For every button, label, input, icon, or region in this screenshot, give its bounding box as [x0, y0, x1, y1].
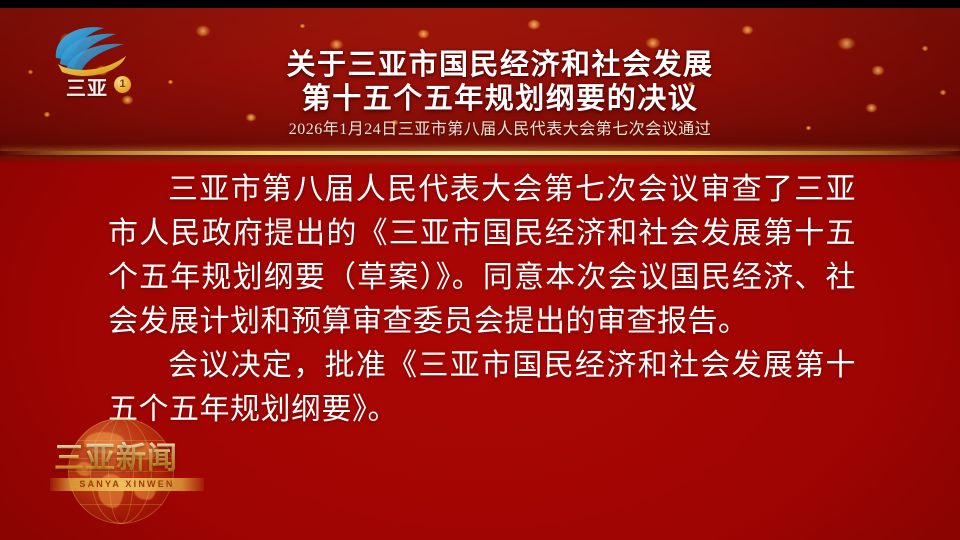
letterbox-top-bar [0, 0, 960, 8]
bokeh-particle [44, 112, 50, 117]
program-name-en: SANYA XINWEN [50, 478, 204, 491]
article-body: 三亚市第八届人民代表大会第七次会议审查了三亚市人民政府提出的《三亚市国民经济和社… [108, 168, 856, 432]
bokeh-particle [872, 66, 884, 75]
station-bug: 三亚新闻 SANYA XINWEN [40, 416, 230, 526]
program-name-cn: 三亚新闻 [54, 442, 178, 476]
logo-channel-number: 1 [114, 76, 131, 93]
logo-wordmark: 三亚 [52, 72, 122, 101]
bokeh-particle [922, 46, 928, 51]
bokeh-particle [646, 38, 660, 48]
bokeh-particle [300, 24, 305, 28]
bokeh-particle [418, 30, 429, 38]
bokeh-particle [196, 26, 210, 36]
title-line-1: 关于三亚市国民经济和社会发展 [150, 48, 850, 82]
channel-logo: 三亚 1 [36, 22, 142, 100]
station-bug-plate: 三亚新闻 SANYA XINWEN [40, 442, 230, 488]
article-paragraph: 三亚市第八届人民代表大会第七次会议审查了三亚市人民政府提出的《三亚市国民经济和社… [108, 168, 856, 344]
bokeh-particle [866, 104, 877, 112]
bokeh-particle [940, 90, 946, 95]
title-line-2: 第十五个五年规划纲要的决议 [150, 82, 850, 116]
globe-parallel [68, 504, 174, 505]
header-title-block: 关于三亚市国民经济和社会发展 第十五个五年规划纲要的决议 2026年1月24日三… [150, 48, 850, 140]
sanya-swoosh-icon [36, 22, 142, 78]
broadcast-screen: 三亚 1 关于三亚市国民经济和社会发展 第十五个五年规划纲要的决议 2026年1… [0, 0, 960, 540]
header-subtitle: 2026年1月24日三亚市第八届人民代表大会第七次会议通过 [150, 120, 850, 140]
divider-shadow [0, 155, 960, 164]
bokeh-particle [28, 70, 33, 74]
bokeh-particle [742, 26, 753, 34]
bokeh-particle [528, 20, 540, 29]
